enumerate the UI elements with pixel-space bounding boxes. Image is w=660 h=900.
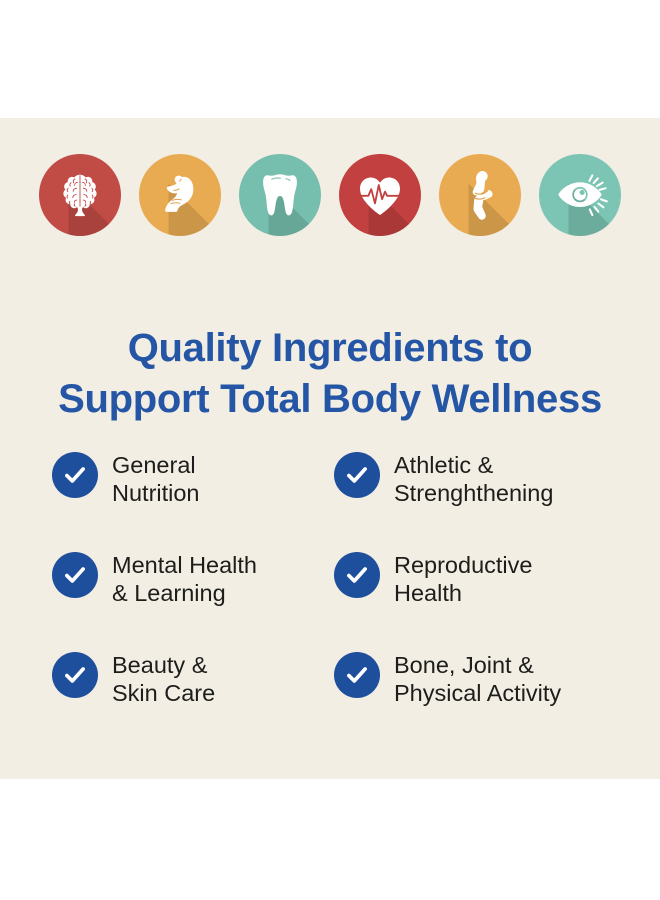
- list-item-label-line-1: Mental Health: [112, 552, 257, 578]
- eye-icon: [539, 154, 621, 236]
- list-item-label: Bone, Joint & Physical Activity: [394, 648, 561, 707]
- check-icon: [52, 452, 98, 498]
- heartbeat-icon: [339, 154, 421, 236]
- list-item-label-line-1: General: [112, 452, 196, 478]
- check-icon: [52, 652, 98, 698]
- list-item-label: Reproductive Health: [394, 548, 532, 607]
- page-title-line-1: Quality Ingredients to: [0, 323, 660, 374]
- list-item: Beauty & Skin Care: [52, 648, 334, 748]
- list-item-label-line-2: Physical Activity: [394, 679, 561, 707]
- check-icon: [334, 552, 380, 598]
- list-item: Bone, Joint & Physical Activity: [334, 648, 622, 748]
- list-item-label: Beauty & Skin Care: [112, 648, 215, 707]
- list-item-label-line-2: Nutrition: [112, 479, 200, 507]
- health-icon-strip: [0, 154, 660, 236]
- list-item-label: General Nutrition: [112, 448, 200, 507]
- check-icon: [52, 552, 98, 598]
- list-item-label: Mental Health & Learning: [112, 548, 257, 607]
- check-icon: [334, 652, 380, 698]
- benefits-checklist: General Nutrition Athletic & Strenghthen…: [52, 448, 622, 748]
- list-item: Reproductive Health: [334, 548, 622, 648]
- list-item-label-line-1: Beauty &: [112, 652, 207, 678]
- page-title: Quality Ingredients to Support Total Bod…: [0, 323, 660, 425]
- list-item-label: Athletic & Strenghthening: [394, 448, 553, 507]
- list-item: Mental Health & Learning: [52, 548, 334, 648]
- page-title-line-2: Support Total Body Wellness: [0, 374, 660, 425]
- content-panel: Quality Ingredients to Support Total Bod…: [0, 118, 660, 779]
- promo-graphic: Quality Ingredients to Support Total Bod…: [0, 0, 660, 900]
- muscle-icon: [139, 154, 221, 236]
- check-icon: [334, 452, 380, 498]
- list-item: Athletic & Strenghthening: [334, 448, 622, 548]
- list-item-label-line-2: & Learning: [112, 579, 257, 607]
- knee-joint-icon: [439, 154, 521, 236]
- list-item-label-line-1: Athletic &: [394, 452, 493, 478]
- list-item-label-line-2: Health: [394, 579, 532, 607]
- list-item-label-line-2: Strenghthening: [394, 479, 553, 507]
- list-item-label-line-2: Skin Care: [112, 679, 215, 707]
- list-item: General Nutrition: [52, 448, 334, 548]
- list-item-label-line-1: Reproductive: [394, 552, 532, 578]
- brain-icon: [39, 154, 121, 236]
- list-item-label-line-1: Bone, Joint &: [394, 652, 534, 678]
- tooth-icon: [239, 154, 321, 236]
